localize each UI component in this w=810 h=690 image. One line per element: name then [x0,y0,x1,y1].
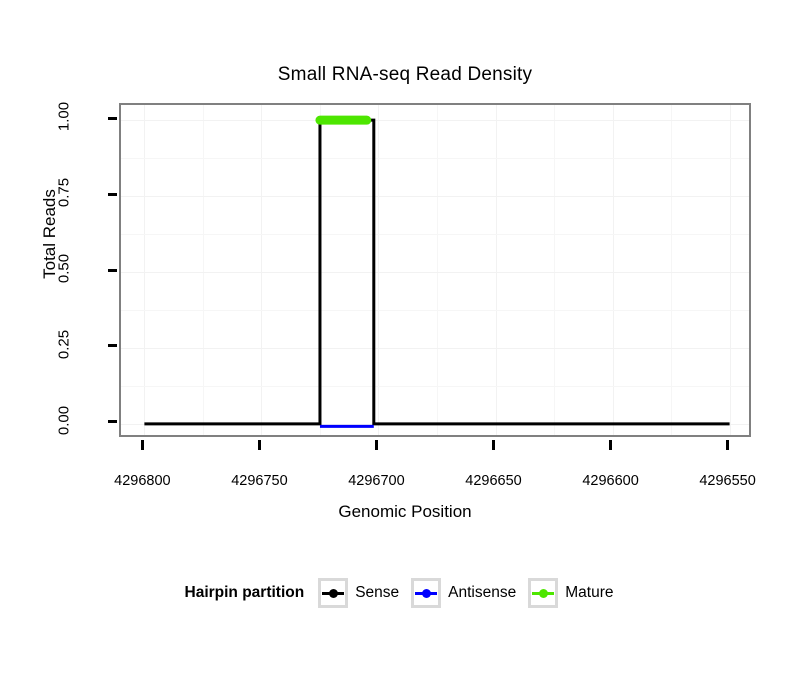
legend-entry-mature[interactable]: Mature [528,578,613,608]
x-tick-mark [609,440,612,450]
y-tick-label: 0.50 [56,246,73,292]
x-axis-title: Genomic Position [0,502,810,522]
y-tick-mark [108,420,117,423]
x-tick-label: 4296650 [429,473,559,489]
legend-key-sense-icon [318,578,348,608]
legend-key-point [422,589,431,598]
y-tick-mark [108,269,117,272]
x-tick-mark [141,440,144,450]
x-tick-mark [258,440,261,450]
legend-key-point [539,589,548,598]
x-tick-mark [492,440,495,450]
legend-label: Mature [565,584,613,602]
legend-entries: SenseAntisenseMature [318,578,625,608]
legend-title: Hairpin partition [185,584,305,602]
legend-label: Antisense [448,584,516,602]
series-svg [121,105,751,437]
x-tick-label: 4296600 [546,473,676,489]
y-tick-mark [108,117,117,120]
x-tick-mark [726,440,729,450]
series-line-sense [144,120,729,424]
chart-title: Small RNA-seq Read Density [0,64,810,86]
y-tick-label: 0.00 [56,397,73,443]
legend-entry-antisense[interactable]: Antisense [411,578,516,608]
y-tick-mark [108,344,117,347]
legend-entry-sense[interactable]: Sense [318,578,399,608]
legend-label: Sense [355,584,399,602]
legend-key-point [329,589,338,598]
x-tick-mark [375,440,378,450]
y-tick-label: 0.75 [56,170,73,216]
series-layer [121,105,749,435]
x-tick-label: 4296550 [663,473,793,489]
legend-key-mature-icon [528,578,558,608]
y-tick-mark [108,193,117,196]
x-tick-label: 4296800 [77,473,207,489]
x-tick-label: 4296700 [311,473,441,489]
legend-key-antisense-icon [411,578,441,608]
x-tick-label: 4296750 [194,473,324,489]
y-tick-label: 1.00 [56,94,73,140]
y-tick-label: 0.25 [56,321,73,367]
plot-panel [119,103,751,437]
chart-legend: Hairpin partition SenseAntisenseMature [0,578,810,608]
